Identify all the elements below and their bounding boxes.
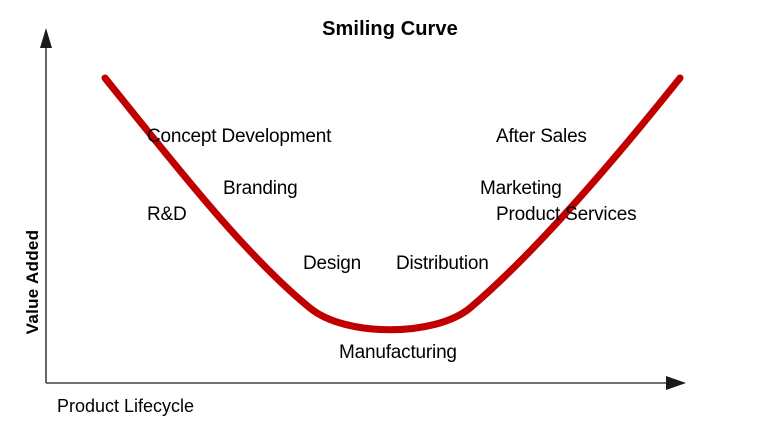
page-title: Smiling Curve bbox=[0, 18, 780, 41]
annotation-concept-development-line1: Concept Development bbox=[147, 124, 331, 150]
y-axis-label: Value Added bbox=[23, 217, 43, 347]
annotation-marketing: Marketing bbox=[480, 176, 562, 202]
annotation-design: Design bbox=[303, 251, 361, 277]
x-axis-arrow-icon bbox=[666, 376, 686, 390]
annotation-after-sales-line1: After Sales bbox=[496, 124, 636, 150]
annotation-branding: Branding bbox=[223, 176, 297, 202]
annotation-after-sales-line2: Product Services bbox=[496, 202, 636, 228]
annotation-concept-development-line2: R&D bbox=[147, 202, 331, 228]
chart-plot-area bbox=[0, 0, 780, 437]
smiling-curve-diagram: Smiling Curve Value Added Product Lifecy… bbox=[0, 0, 780, 437]
annotation-distribution: Distribution bbox=[396, 251, 489, 277]
annotation-manufacturing: Manufacturing bbox=[339, 340, 457, 366]
x-axis-label: Product Lifecycle bbox=[57, 396, 194, 417]
